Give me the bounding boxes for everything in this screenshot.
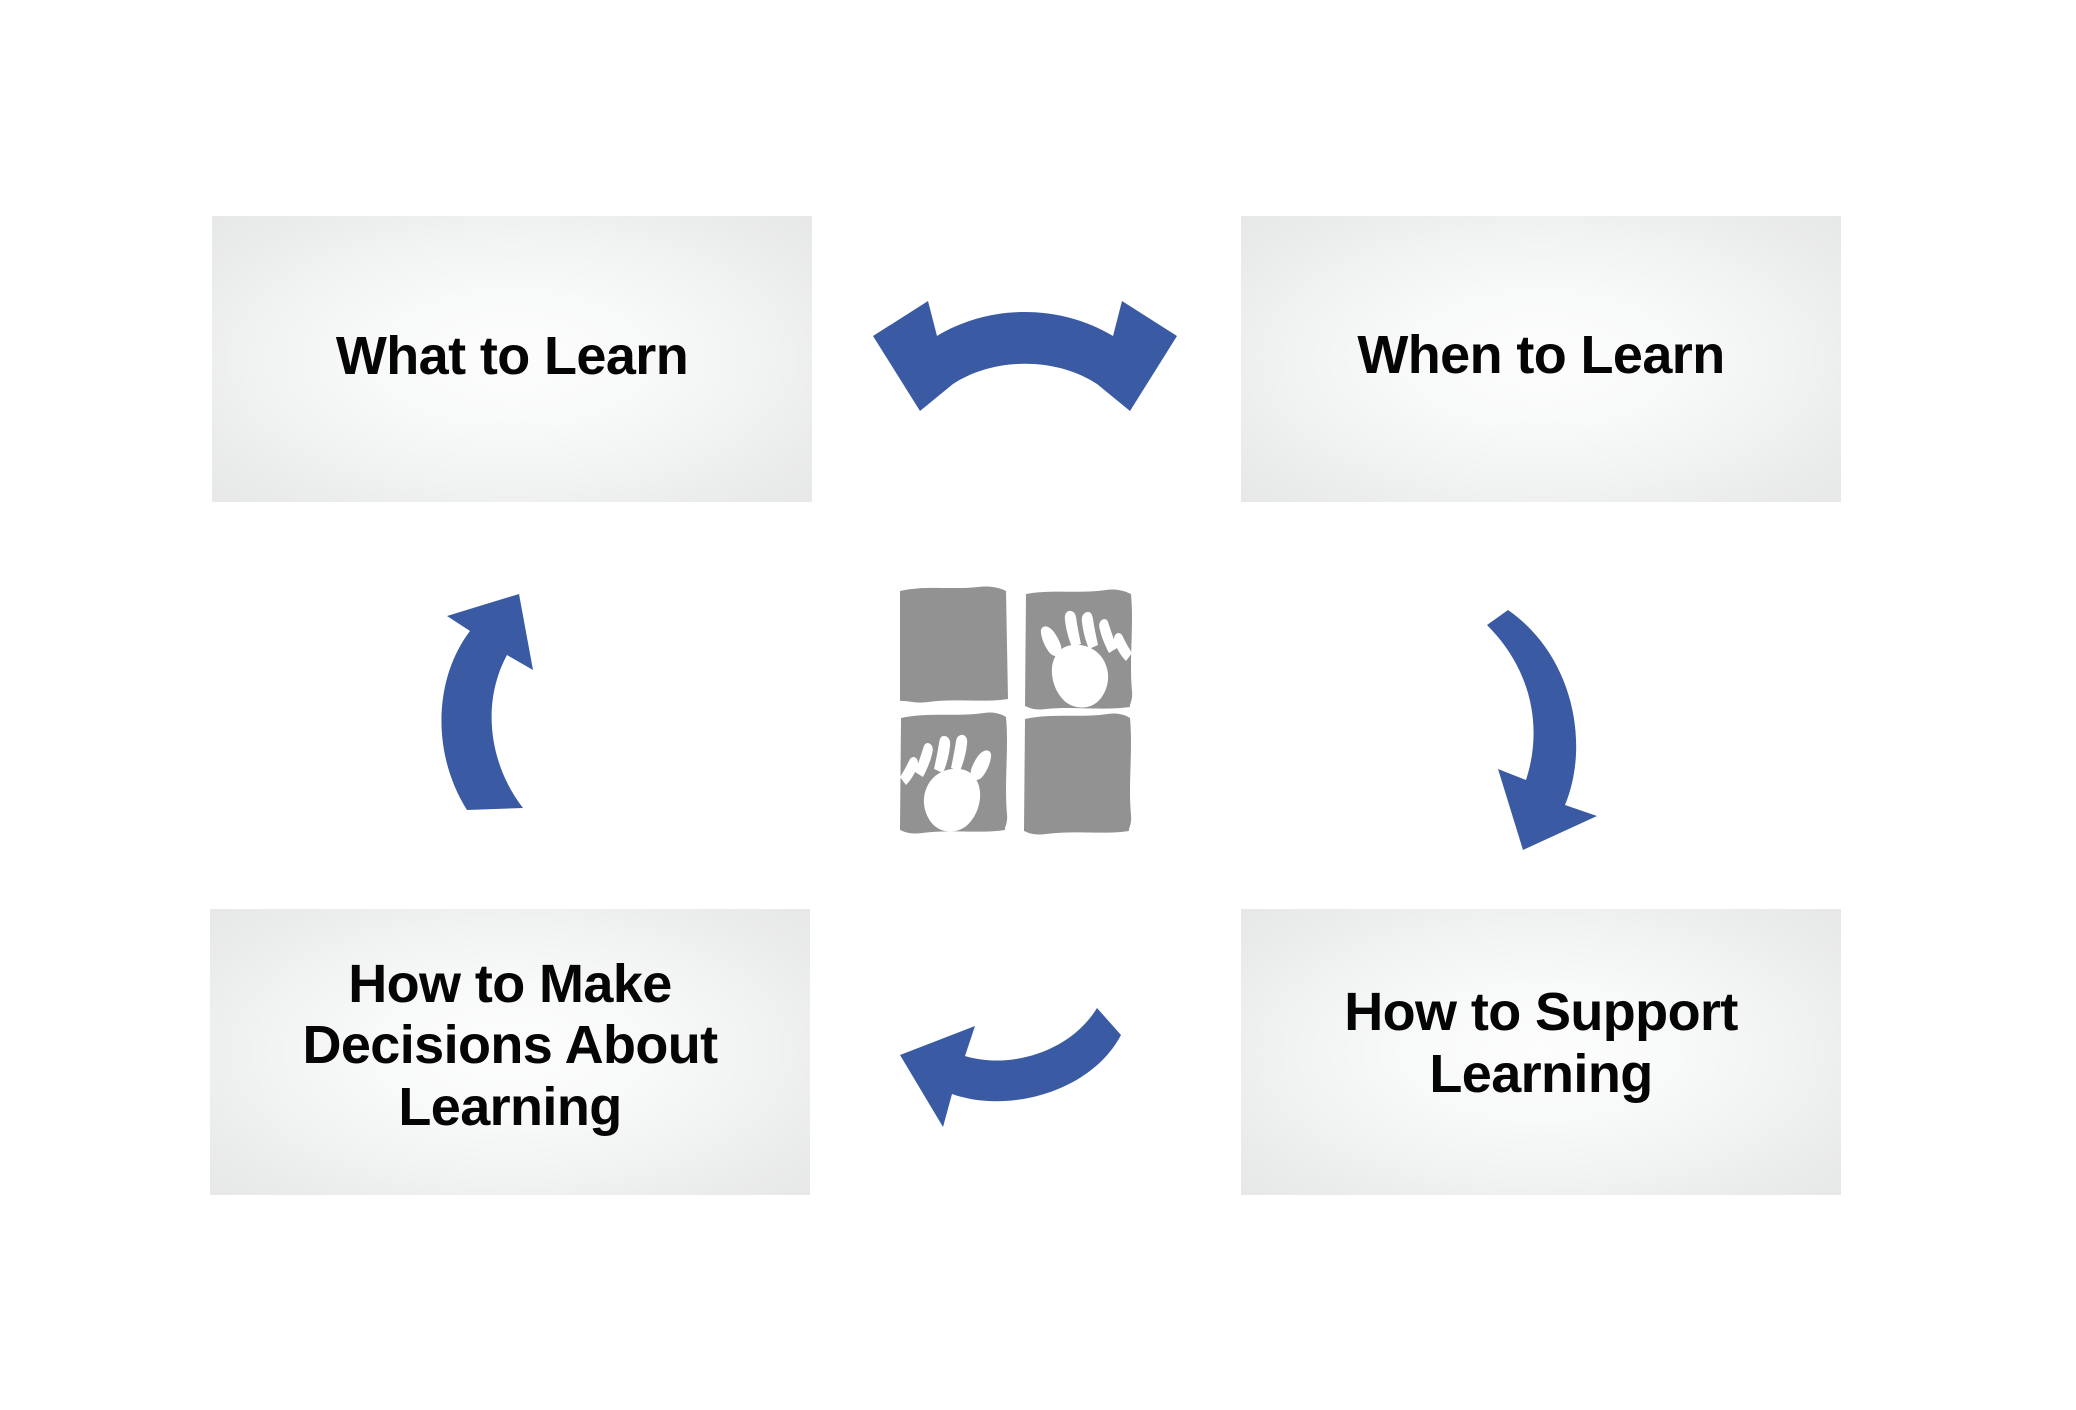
- logo-square-top-left: [900, 587, 1008, 703]
- quadrant-box-how-to-make-decisions-about-learning[interactable]: How to Make Decisions About Learning: [210, 909, 810, 1195]
- quadrant-label-how-to-make-decisions-about-learning: How to Make Decisions About Learning: [288, 954, 731, 1139]
- diagram-canvas: What to Learn When to Learn How to Suppo…: [0, 0, 2076, 1410]
- double-headed-curved-arrow-icon: [860, 280, 1190, 430]
- quadrant-box-when-to-learn[interactable]: When to Learn: [1241, 216, 1841, 502]
- curved-arrow-down-icon: [1470, 560, 1660, 860]
- curved-arrow-left-icon: [875, 975, 1175, 1135]
- quadrant-label-when-to-learn: When to Learn: [1343, 325, 1738, 387]
- logo-square-bottom-right: [1024, 714, 1131, 835]
- quadrant-box-how-to-support-learning[interactable]: How to Support Learning: [1241, 909, 1841, 1195]
- four-squares-with-handprints-logo-icon: [896, 581, 1136, 839]
- quadrant-label-what-to-learn: What to Learn: [322, 326, 702, 388]
- curved-arrow-up-icon: [415, 560, 605, 860]
- quadrant-label-how-to-support-learning: How to Support Learning: [1330, 982, 1752, 1105]
- quadrant-box-what-to-learn[interactable]: What to Learn: [212, 216, 812, 502]
